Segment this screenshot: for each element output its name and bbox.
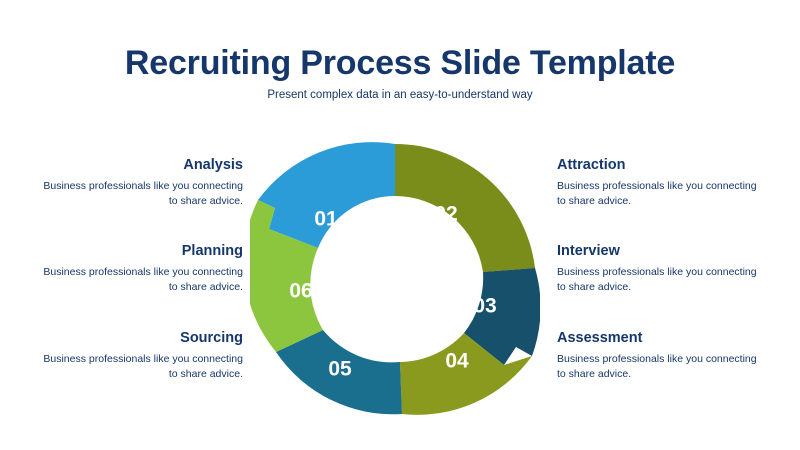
segment-02-label: 02 [434, 203, 457, 226]
text-block-planning: Planning Business professionals like you… [35, 243, 243, 295]
text-block-analysis: Analysis Business professionals like you… [35, 157, 243, 209]
segment-03-label: 03 [473, 295, 496, 318]
attraction-description: Business professionals like you connecti… [557, 179, 765, 209]
interview-heading: Interview [557, 243, 765, 259]
segment-05-label: 05 [328, 358, 352, 381]
circular-process-diagram: 01 02 03 04 05 [250, 140, 540, 418]
sourcing-description: Business professionals like you connecti… [35, 352, 243, 382]
text-block-interview: Interview Business professionals like yo… [557, 243, 765, 295]
page-title: Recruiting Process Slide Template [0, 44, 800, 83]
diagram-center-hole [337, 221, 453, 337]
analysis-description: Business professionals like you connecti… [35, 179, 243, 209]
interview-description: Business professionals like you connecti… [557, 265, 765, 295]
text-block-attraction: Attraction Business professionals like y… [557, 157, 765, 209]
text-block-sourcing: Sourcing Business professionals like you… [35, 330, 243, 382]
text-block-assessment: Assessment Business professionals like y… [557, 330, 765, 382]
assessment-heading: Assessment [557, 330, 765, 346]
attraction-heading: Attraction [557, 157, 765, 173]
planning-heading: Planning [35, 243, 243, 259]
page-subtitle: Present complex data in an easy-to-under… [0, 89, 800, 101]
analysis-heading: Analysis [35, 157, 243, 173]
slide-canvas: Recruiting Process Slide Template Presen… [0, 0, 800, 450]
segment-01-label: 01 [314, 208, 338, 231]
sourcing-heading: Sourcing [35, 330, 243, 346]
assessment-description: Business professionals like you connecti… [557, 352, 765, 382]
planning-description: Business professionals like you connecti… [35, 265, 243, 295]
segment-04-label: 04 [445, 350, 469, 373]
segment-06-label: 06 [289, 280, 312, 303]
